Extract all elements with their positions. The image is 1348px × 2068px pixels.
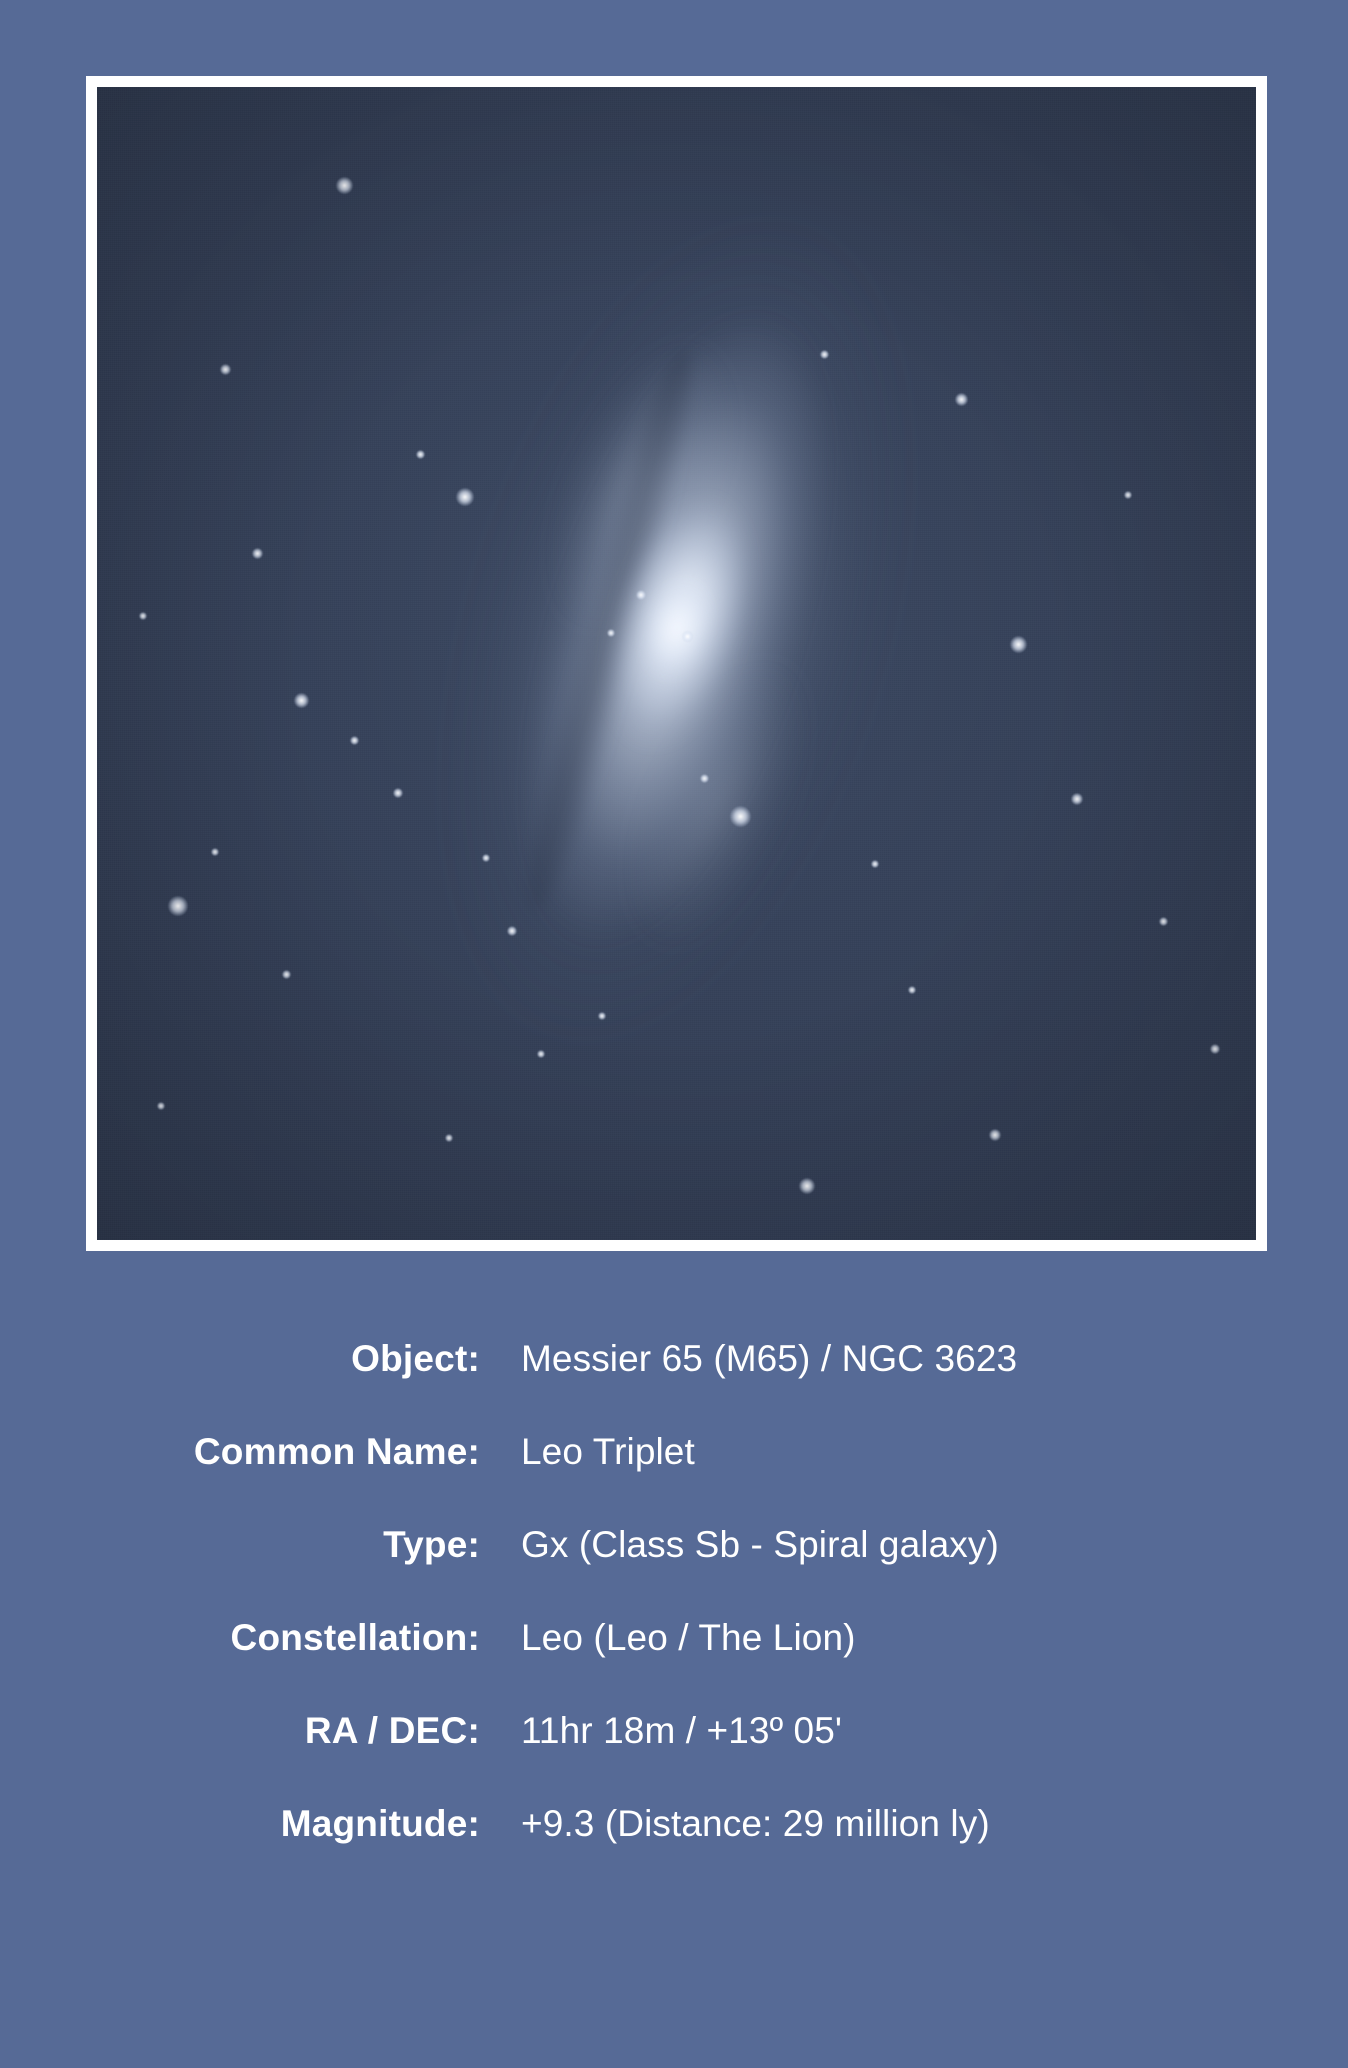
star <box>350 736 359 745</box>
star <box>416 450 425 459</box>
star <box>445 1134 453 1142</box>
star <box>456 488 474 506</box>
star <box>636 590 646 600</box>
star <box>989 1129 1001 1141</box>
star <box>482 854 490 862</box>
star <box>871 860 879 868</box>
info-label-common-name: Common Name: <box>0 1431 480 1473</box>
star <box>157 1102 165 1110</box>
info-row-type: Type: Gx (Class Sb - Spiral galaxy) <box>0 1524 1348 1617</box>
star <box>168 896 188 916</box>
star <box>537 1050 545 1058</box>
info-value-type: Gx (Class Sb - Spiral galaxy) <box>521 1524 999 1566</box>
info-label-magnitude: Magnitude: <box>0 1803 480 1845</box>
info-row-object: Object: Messier 65 (M65) / NGC 3623 <box>0 1338 1348 1431</box>
info-row-common-name: Common Name: Leo Triplet <box>0 1431 1348 1524</box>
info-label-object: Object: <box>0 1338 480 1380</box>
info-label-type: Type: <box>0 1524 480 1566</box>
info-row-magnitude: Magnitude: +9.3 (Distance: 29 million ly… <box>0 1803 1348 1896</box>
photo-frame <box>86 76 1267 1251</box>
star <box>393 788 403 798</box>
star <box>336 177 353 194</box>
info-row-ra-dec: RA / DEC: 11hr 18m / +13º 05' <box>0 1710 1348 1803</box>
info-value-constellation: Leo (Leo / The Lion) <box>521 1617 856 1659</box>
object-info-table: Object: Messier 65 (M65) / NGC 3623 Comm… <box>0 1338 1348 1896</box>
star <box>955 393 968 406</box>
star <box>598 1012 606 1020</box>
galaxy-photo <box>97 87 1256 1240</box>
star <box>139 612 147 620</box>
info-value-magnitude: +9.3 (Distance: 29 million ly) <box>521 1803 990 1845</box>
info-value-object: Messier 65 (M65) / NGC 3623 <box>521 1338 1017 1380</box>
star <box>294 693 309 708</box>
star <box>1010 636 1027 653</box>
object-info-card: Object: Messier 65 (M65) / NGC 3623 Comm… <box>0 0 1348 2068</box>
info-label-ra-dec: RA / DEC: <box>0 1710 480 1752</box>
star <box>1124 491 1132 499</box>
star <box>1071 793 1083 805</box>
info-value-ra-dec: 11hr 18m / +13º 05' <box>521 1710 842 1752</box>
star <box>252 548 263 559</box>
info-label-constellation: Constellation: <box>0 1617 480 1659</box>
info-value-common-name: Leo Triplet <box>521 1431 695 1473</box>
star <box>700 774 709 783</box>
star <box>607 629 615 637</box>
star <box>1210 1044 1220 1054</box>
star <box>799 1178 815 1194</box>
star <box>1159 917 1168 926</box>
star <box>282 970 291 979</box>
info-row-constellation: Constellation: Leo (Leo / The Lion) <box>0 1617 1348 1710</box>
star <box>908 986 916 994</box>
star <box>220 364 231 375</box>
star <box>211 848 219 856</box>
